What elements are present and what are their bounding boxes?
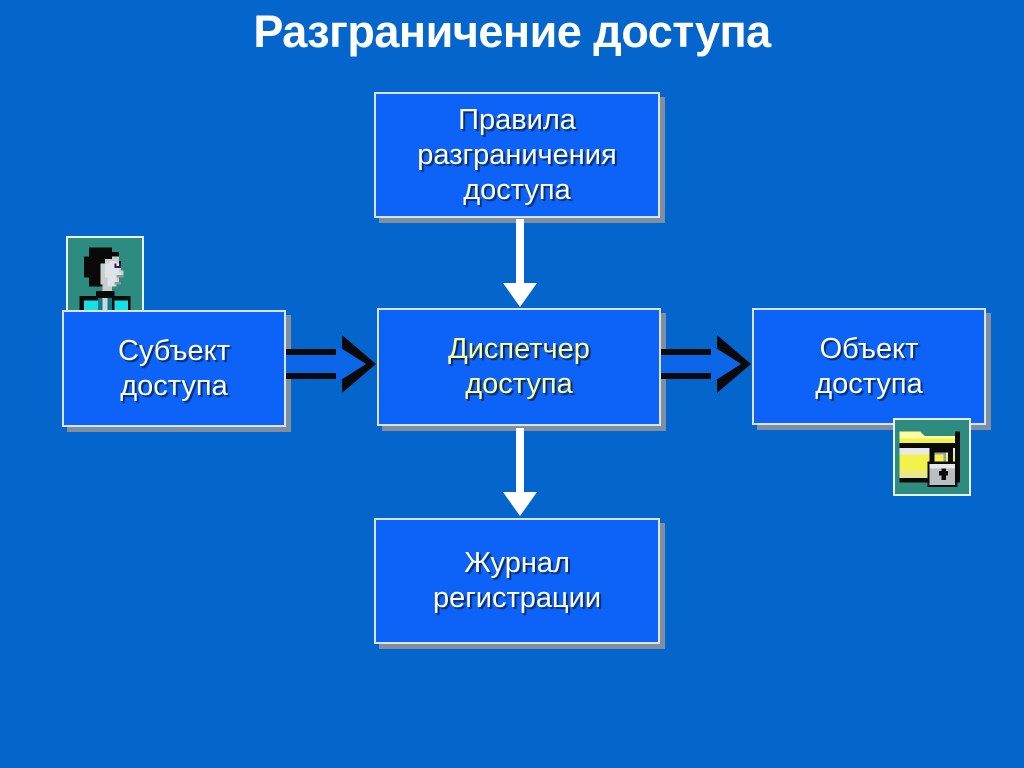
box-access-manager[interactable]: Диспетчер доступа [377,308,661,426]
arrow-manager-to-journal [503,428,537,517]
box-access-manager-label: Диспетчер доступа [442,332,596,402]
folder-lock-icon [893,418,971,496]
box-access-object[interactable]: Объект доступа [752,308,986,425]
arrow-head [503,492,537,516]
person-icon [66,236,144,314]
page-title: Разграничение доступа [0,2,1024,62]
box-access-rules-label: Правила разграничения доступа [411,103,622,208]
arrow-shaft [516,219,524,285]
arrow-rules-to-manager [503,219,537,307]
box-registration-journal-label: Журнал регистрации [427,546,607,616]
box-access-subject-label: Субъект доступа [112,334,236,404]
slide-canvas: Разграничение доступа Правила разграниче… [0,0,1024,768]
arrow-manager-to-object [661,333,753,395]
arrow-head [503,283,537,307]
box-access-rules[interactable]: Правила разграничения доступа [374,92,660,218]
box-registration-journal[interactable]: Журнал регистрации [374,518,660,644]
arrow-shaft [516,428,524,494]
box-access-object-label: Объект доступа [809,332,929,402]
arrow-subject-to-manager [286,333,378,395]
box-access-subject[interactable]: Субъект доступа [62,310,286,427]
